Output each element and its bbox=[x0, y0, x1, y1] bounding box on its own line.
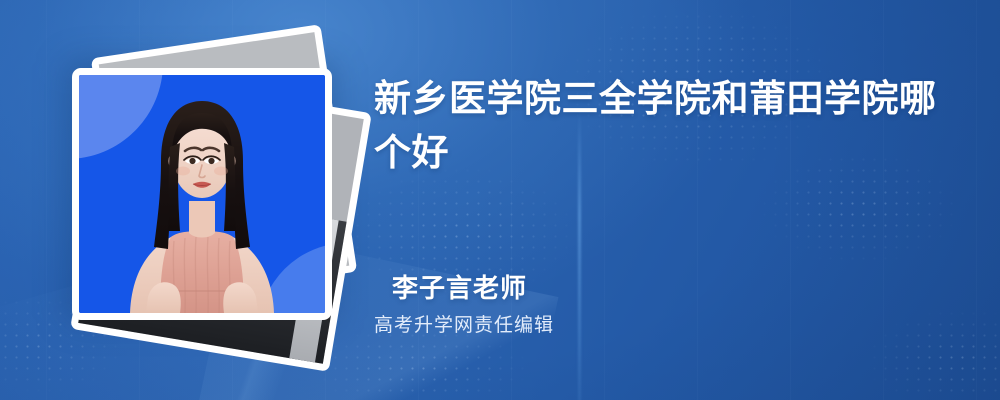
author-role: 高考升学网责任编辑 bbox=[374, 312, 952, 338]
author-byline: 李子言老师 高考升学网责任编辑 bbox=[392, 272, 952, 338]
author-portrait-photo bbox=[114, 91, 290, 313]
photo-card-stack bbox=[48, 38, 358, 362]
cover-text-column: 新乡医学院三全学院和莆田学院哪个好 李子言老师 高考升学网责任编辑 bbox=[374, 0, 974, 400]
author-photo-card bbox=[72, 68, 332, 320]
article-cover-banner: 新乡医学院三全学院和莆田学院哪个好 李子言老师 高考升学网责任编辑 bbox=[0, 0, 1000, 400]
author-name: 李子言老师 bbox=[392, 272, 952, 306]
page-title: 新乡医学院三全学院和莆田学院哪个好 bbox=[374, 72, 956, 180]
